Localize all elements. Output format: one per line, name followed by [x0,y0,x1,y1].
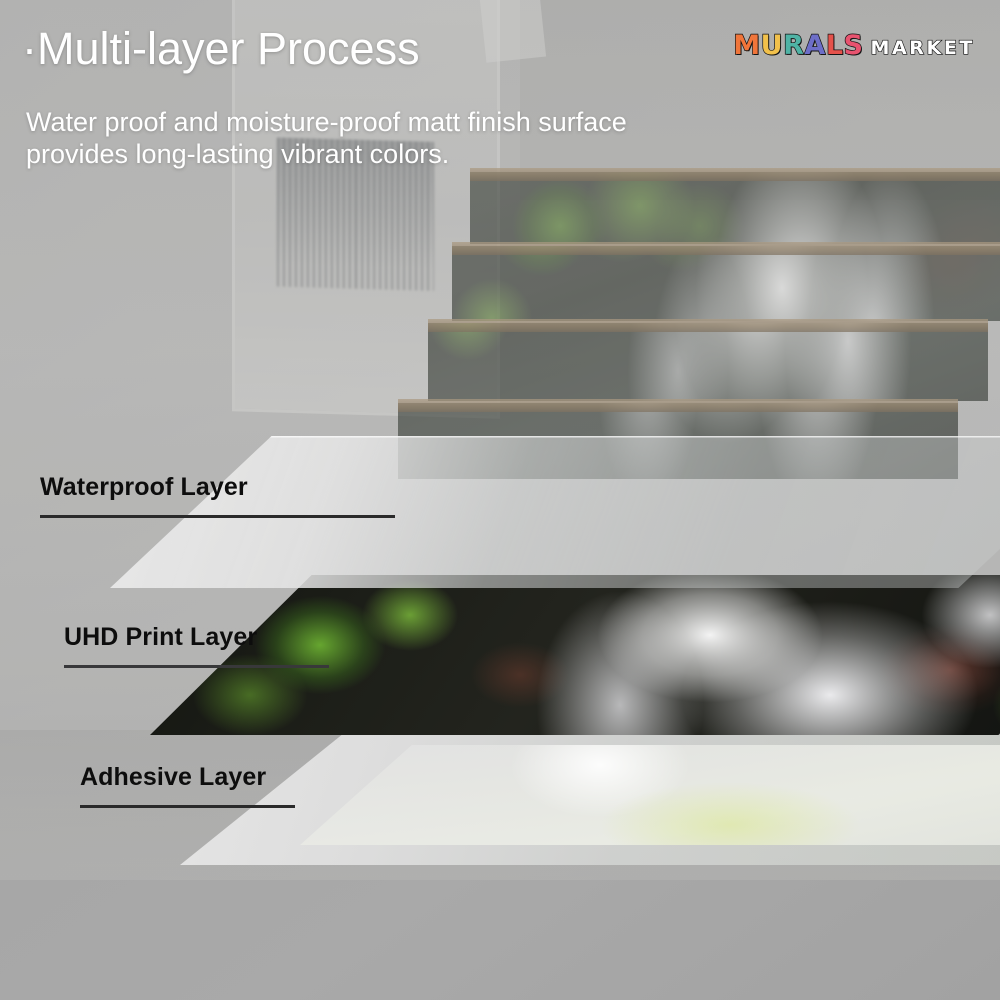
poster-canvas: Waterproof Layer UHD Print Layer Adhesiv… [0,0,1000,1000]
framed-artwork-secondary [474,0,546,63]
stair-tread-3 [452,242,1000,255]
layer-label-uhd-print-text: UHD Print Layer [64,625,329,650]
layer-label-adhesive: Adhesive Layer [80,765,295,808]
staircase [470,150,1000,470]
stair-step-2 [428,323,988,401]
layer-label-waterproof-text: Waterproof Layer [40,475,395,500]
layer-label-waterproof: Waterproof Layer [40,475,395,518]
page-subtitle: Water proof and moisture-proof matt fini… [26,107,627,171]
stair-riser-mural-2 [428,323,988,401]
stair-riser-mural-3 [452,246,1000,321]
brand-logo-market: MARKET [870,39,975,58]
brand-logo-letter-a-3: A [804,32,825,59]
layer-label-uhd-print-rule [64,665,329,668]
layer-sheet-adhesive-inner [300,745,1000,845]
stair-step-3 [452,246,1000,321]
brand-logo-letter-u-1: U [761,32,783,59]
page-title: ·Multi-layer Process [22,26,420,71]
stair-riser-mural-4 [470,172,1000,244]
layer-label-adhesive-rule [80,805,295,808]
brand-logo-letter-r-2: R [783,32,804,59]
stair-step-4 [470,172,1000,244]
brand-logo-letter-m-0: M [733,32,760,59]
layer-label-waterproof-rule [40,515,395,518]
brand-logo-letter-s-5: S [844,32,864,59]
brand-logo-murals: MURALS [733,32,863,59]
brand-logo[interactable]: MURALS MARKET [733,32,975,59]
stair-tread-2 [428,319,988,332]
page-subtitle-line-2: provides long-lasting vibrant colors. [26,139,627,171]
stair-tread-1 [398,399,958,412]
brand-logo-letter-l-4: L [826,32,844,59]
page-subtitle-line-1: Water proof and moisture-proof matt fini… [26,107,627,139]
layer-label-uhd-print: UHD Print Layer [64,625,329,668]
layer-label-adhesive-text: Adhesive Layer [80,765,295,790]
